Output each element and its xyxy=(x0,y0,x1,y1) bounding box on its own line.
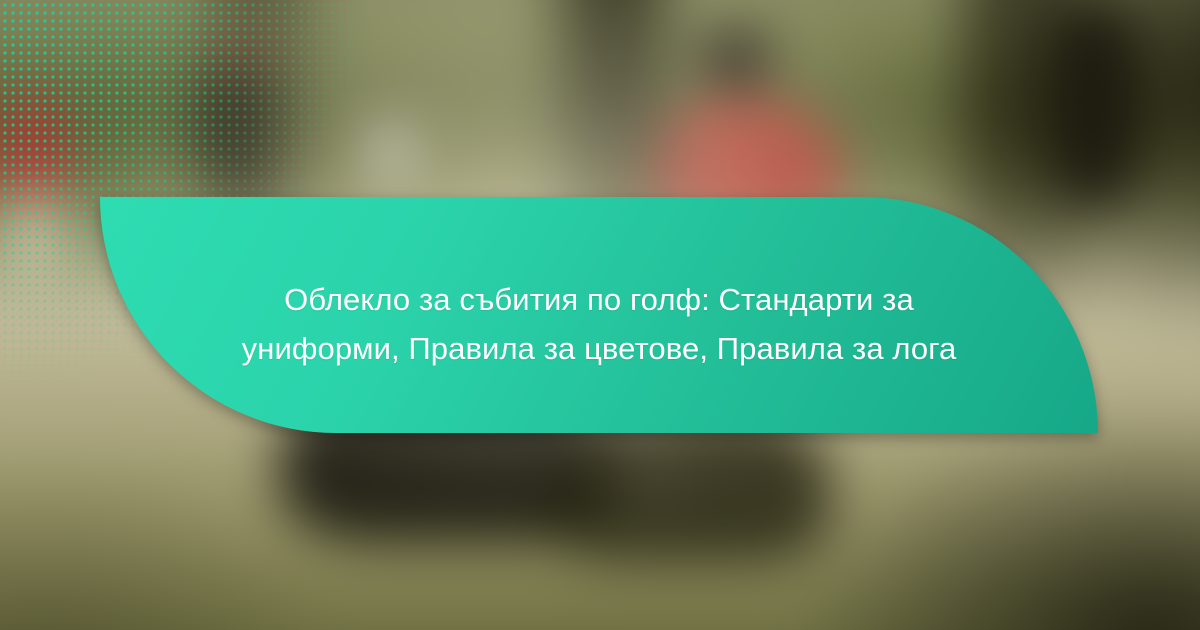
share-card: Облекло за събития по голф: Стандарти за… xyxy=(0,0,1200,630)
title-banner: Облекло за събития по голф: Стандарти за… xyxy=(100,197,1098,433)
page-title: Облекло за събития по голф: Стандарти за… xyxy=(100,275,1098,373)
